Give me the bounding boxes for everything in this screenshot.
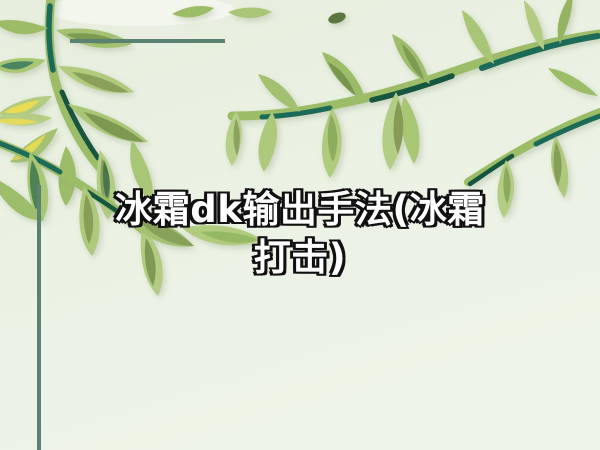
poster-canvas: 冰霜dk输出手法(冰霜打击)	[0, 0, 600, 450]
page-title: 冰霜dk输出手法(冰霜打击)	[0, 186, 600, 282]
page-title-text: 冰霜dk输出手法(冰霜打击)	[100, 186, 500, 282]
decorative-horizontal-rule	[70, 39, 225, 43]
